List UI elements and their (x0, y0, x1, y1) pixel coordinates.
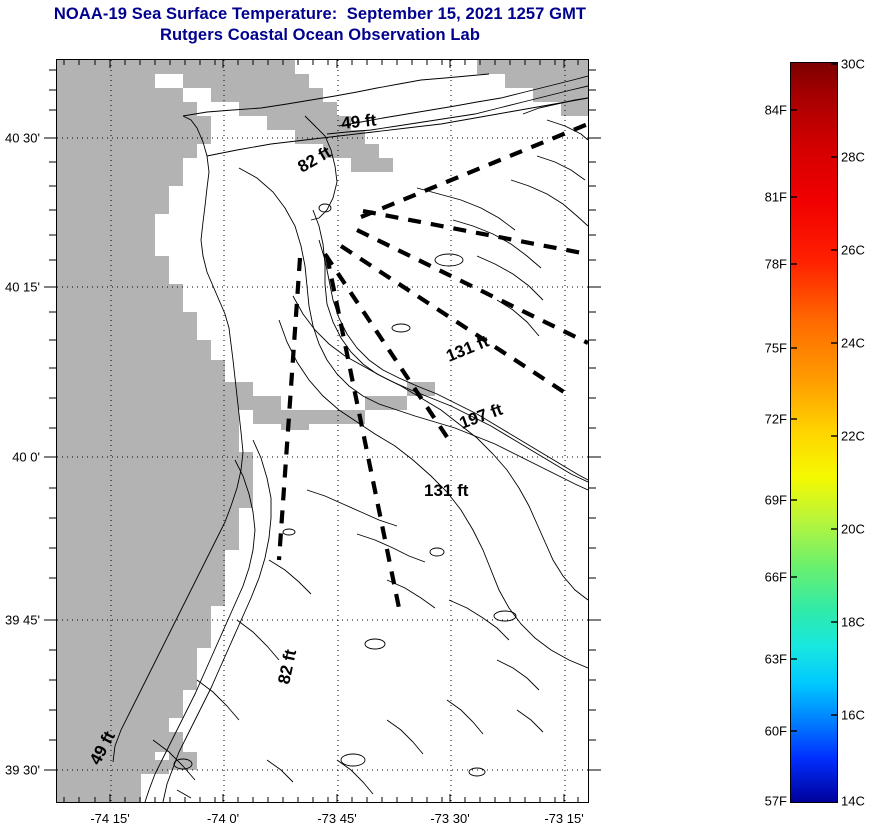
x-tick-label-2: -73 45' (317, 811, 356, 826)
x-tick-label-0: -74 15' (90, 811, 129, 826)
x-tick-label-3: -73 30' (430, 811, 469, 826)
colorbar-label-f-6: 66F (735, 570, 787, 585)
y-tick-label-3: 39 45' (0, 613, 40, 628)
depth-label-82ft-south: 82 ft (274, 647, 300, 685)
y-tick-label-0: 40 30' (0, 131, 40, 146)
colorbar-label-c-7: 16C (841, 708, 865, 723)
colorbar-label-f-5: 69F (735, 493, 787, 508)
depth-label-197ft: 197 ft (457, 400, 506, 433)
colorbar-label-c-2: 26C (841, 243, 865, 258)
map-plot-area[interactable]: 49 ft 82 ft 131 ft 197 ft 131 ft 82 ft 4… (56, 59, 589, 803)
colorbar-label-c-3: 24C (841, 336, 865, 351)
depth-label-131ft-lower: 131 ft (424, 481, 469, 500)
colorbar-label-c-4: 22C (841, 429, 865, 444)
colorbar-label-f-4: 72F (735, 412, 787, 427)
colorbar-label-c-6: 18C (841, 615, 865, 630)
colorbar-label-f-8: 60F (735, 724, 787, 739)
land-mask (57, 60, 588, 802)
colorbar-label-f-2: 78F (735, 257, 787, 272)
title-line-sensor-datetime: NOAA-19 Sea Surface Temperature: Septemb… (0, 4, 640, 25)
y-tick-label-1: 40 15' (0, 280, 40, 295)
title-line-organization: Rutgers Coastal Ocean Observation Lab (0, 25, 640, 46)
x-tick-label-4: -73 15' (544, 811, 583, 826)
colorbar-label-f-9: 57F (735, 794, 787, 809)
y-tick-label-2: 40 0' (0, 450, 40, 465)
temperature-colorbar[interactable] (790, 62, 838, 803)
colorbar-label-c-5: 20C (841, 522, 865, 537)
colorbar-label-c-8: 14C (841, 794, 865, 809)
y-tick-label-4: 39 30' (0, 763, 40, 778)
map-graphics: 49 ft 82 ft 131 ft 197 ft 131 ft 82 ft 4… (57, 60, 588, 802)
colorbar-label-c-1: 28C (841, 150, 865, 165)
colorbar-label-f-1: 81F (735, 190, 787, 205)
depth-label-131ft-upper: 131 ft (443, 331, 492, 365)
depth-label-49ft-north: 49 ft (340, 110, 377, 133)
sst-map-page: NOAA-19 Sea Surface Temperature: Septemb… (0, 0, 872, 832)
colorbar-label-f-0: 84F (735, 103, 787, 118)
colorbar-label-f-7: 63F (735, 652, 787, 667)
page-title: NOAA-19 Sea Surface Temperature: Septemb… (0, 4, 640, 46)
x-tick-label-1: -74 0' (207, 811, 239, 826)
colorbar-label-c-0: 30C (841, 57, 865, 72)
colorbar-label-f-3: 75F (735, 341, 787, 356)
map-canvas: 49 ft 82 ft 131 ft 197 ft 131 ft 82 ft 4… (57, 60, 588, 802)
colorbar-gradient (791, 63, 837, 802)
